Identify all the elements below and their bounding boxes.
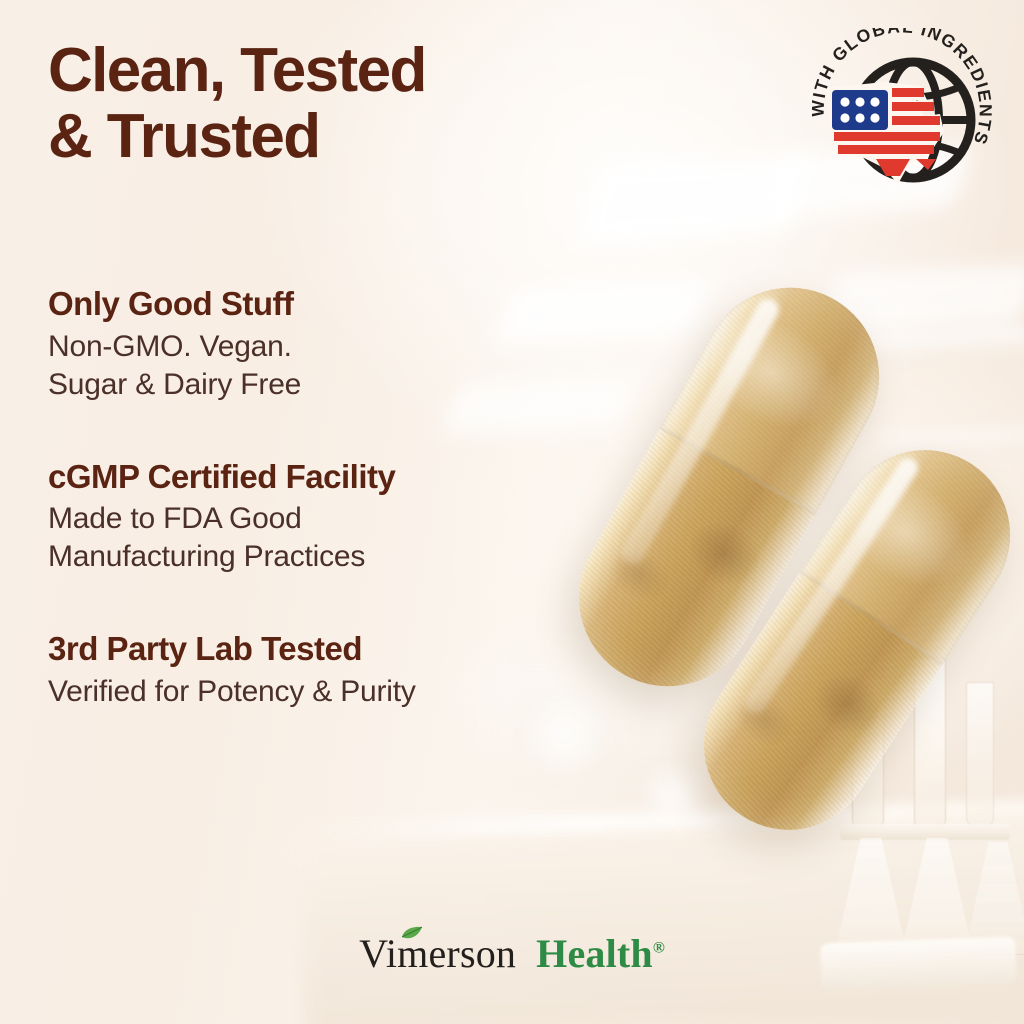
feature-title: Only Good Stuff (48, 285, 608, 323)
feature-description-line: Sugar & Dairy Free (48, 366, 608, 404)
registered-trademark-icon: ® (653, 940, 665, 957)
headline-line-2: & Trusted (48, 104, 668, 170)
brand-logo: Vimerson Health® (0, 930, 1024, 977)
page-title: Clean, Tested & Trusted (48, 38, 668, 171)
test-tube-icon (966, 682, 994, 826)
feature-item-3rd-party-lab-tested: 3rd Party Lab Tested Verified for Potenc… (48, 630, 608, 711)
leaf-icon (401, 926, 423, 941)
feature-description-line: Made to FDA Good (48, 500, 608, 538)
feature-description-line: Manufacturing Practices (48, 538, 608, 576)
logo-text-health: Health (536, 931, 653, 976)
feature-list: Only Good Stuff Non-GMO. Vegan. Sugar & … (48, 285, 608, 711)
logo-text-vimerson: Vimerson (359, 931, 516, 976)
feature-description-line: Non-GMO. Vegan. (48, 328, 608, 366)
feature-title: cGMP Certified Facility (48, 458, 608, 496)
product-marketing-image: Clean, Tested & Trusted Only Good Stuff … (0, 0, 1024, 1024)
with-global-ingredients-badge: WITH GLOBAL INGREDIENTS (812, 28, 992, 204)
feature-description-line: Verified for Potency & Purity (48, 673, 608, 711)
feature-item-cgmp-certified-facility: cGMP Certified Facility Made to FDA Good… (48, 458, 608, 577)
feature-title: 3rd Party Lab Tested (48, 630, 608, 668)
feature-item-only-good-stuff: Only Good Stuff Non-GMO. Vegan. Sugar & … (48, 285, 608, 404)
headline-line-1: Clean, Tested (48, 38, 668, 104)
tube-rack-bar (840, 824, 1010, 840)
